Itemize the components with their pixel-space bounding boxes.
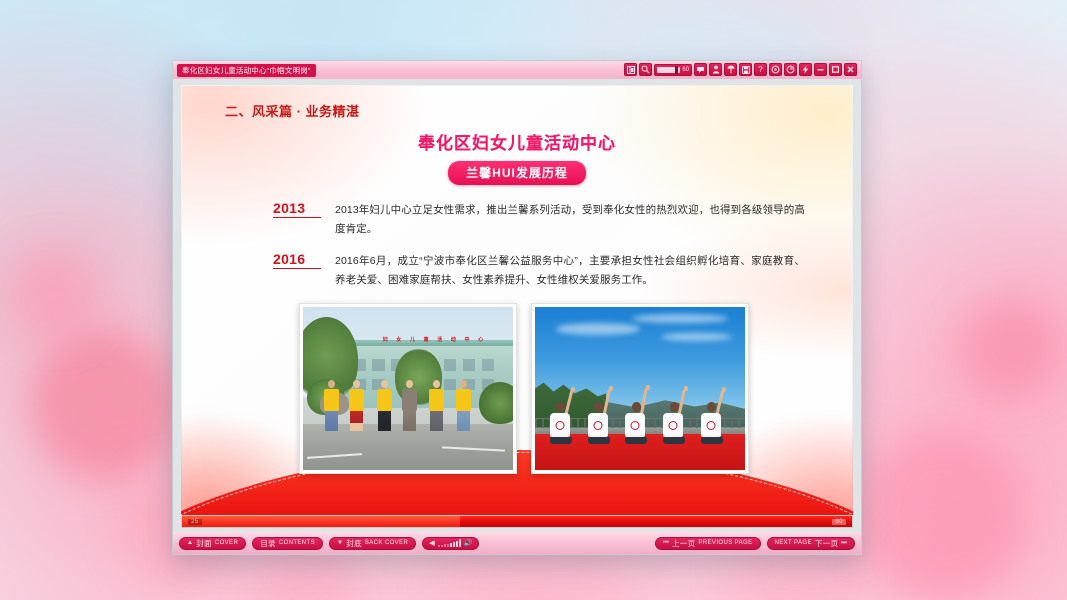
bokeh-blob	[857, 430, 1027, 600]
bottom-toolbar: ▲ 封面 COVER 目录 CONTENTS ▼ 封底 BACK COVER ◀	[173, 532, 861, 554]
next-label-en: NEXT PAGE	[775, 540, 812, 546]
cover-label-en: COVER	[215, 540, 238, 546]
pin-icon[interactable]	[724, 63, 737, 76]
person-icon[interactable]	[709, 63, 722, 76]
slide-content: 二、风采篇 · 业务精湛 奉化区妇女儿童活动中心 兰馨HUI发展历程 2013 …	[181, 85, 853, 528]
lightning-icon[interactable]	[799, 63, 812, 76]
back-cover-label-cn: 封底	[346, 538, 362, 549]
speaker-icon: 🔊	[464, 539, 473, 547]
window-title: 奉化区妇女儿童活动中心“巾帼文明岗”	[177, 64, 316, 77]
photo-women-victory-pose	[531, 303, 749, 474]
current-page-indicator: 25	[188, 519, 202, 525]
skip-forward-icon: ⏭	[841, 540, 847, 547]
volume-level-bars[interactable]	[438, 539, 461, 547]
section-label: 二、风采篇 · 业务精湛	[225, 101, 823, 120]
building-sign: 妇女儿童活动中心	[383, 333, 484, 346]
settings-icon[interactable]	[769, 63, 782, 76]
previous-label-cn: 上一页	[672, 538, 695, 549]
bokeh-blob	[957, 300, 1057, 400]
bokeh-blob	[8, 250, 98, 340]
book-icon[interactable]	[624, 63, 637, 76]
presentation-window: 奉化区妇女儿童活动中心“巾帼文明岗” 60	[172, 60, 862, 555]
slider-value: 60	[682, 67, 689, 73]
search-icon[interactable]	[639, 63, 652, 76]
previous-label-en: PREVIOUS PAGE	[698, 540, 752, 546]
subtitle-badge: 兰馨HUI发展历程	[448, 161, 586, 185]
photo-gallery: 妇女儿童活动中心	[211, 303, 823, 474]
maximize-icon[interactable]	[829, 63, 842, 76]
save-icon[interactable]	[739, 63, 752, 76]
comment-icon[interactable]	[694, 63, 707, 76]
contents-label-cn: 目录	[260, 538, 276, 549]
timeline-year: 2016	[273, 252, 321, 269]
skip-back-icon: ⏮	[663, 540, 669, 547]
photo-volunteers-at-center: 妇女儿童活动中心	[299, 303, 517, 474]
close-icon[interactable]	[844, 63, 857, 76]
timeline-entry: 2013 2013年妇儿中心立足女性需求，推出兰馨系列活动，受到奉化女性的热烈欢…	[273, 201, 805, 239]
timeline-entry: 2016 2016年6月，成立“宁波市奉化区兰馨公益服务中心”，主要承担女性社会…	[273, 252, 805, 290]
brightness-slider[interactable]: 60	[654, 64, 692, 76]
contents-button[interactable]: 目录 CONTENTS	[252, 537, 323, 550]
clock-icon[interactable]	[784, 63, 797, 76]
left-arrow-icon: ◀	[429, 539, 434, 547]
badge-container: 兰馨HUI发展历程	[211, 161, 823, 185]
timeline-text: 2013年妇儿中心立足女性需求，推出兰馨系列活动，受到奉化女性的热烈欢迎，也得到…	[335, 201, 805, 239]
bokeh-blob	[30, 330, 180, 480]
contents-label-en: CONTENTS	[279, 540, 315, 546]
cover-button[interactable]: ▲ 封面 COVER	[179, 537, 246, 550]
timeline-year: 2013	[273, 201, 321, 218]
page-nav-group: ⏮ 上一页 PREVIOUS PAGE NEXT PAGE 下一页 ⏭	[655, 537, 855, 550]
down-arrow-icon: ▼	[337, 540, 343, 546]
slide-viewport: 二、风采篇 · 业务精湛 奉化区妇女儿童活动中心 兰馨HUI发展历程 2013 …	[173, 79, 861, 532]
next-label-cn: 下一页	[815, 538, 838, 549]
previous-page-button[interactable]: ⏮ 上一页 PREVIOUS PAGE	[655, 537, 760, 550]
back-cover-button[interactable]: ▼ 封底 BACK COVER	[329, 537, 416, 550]
up-arrow-icon: ▲	[187, 540, 193, 546]
next-page-button[interactable]: NEXT PAGE 下一页 ⏭	[767, 537, 856, 550]
page-progress-bar[interactable]: 25 60	[181, 515, 853, 528]
help-icon[interactable]: ?	[754, 63, 767, 76]
window-title-bar: 奉化区妇女儿童活动中心“巾帼文明岗” 60	[173, 61, 861, 79]
screen: 奉化区妇女儿童活动中心“巾帼文明岗” 60	[0, 0, 1067, 600]
window-toolbar: 60 ?	[624, 63, 857, 76]
volume-slider[interactable]: ◀ 🔊	[422, 537, 479, 550]
minimize-icon[interactable]	[814, 63, 827, 76]
cover-label-cn: 封面	[196, 538, 212, 549]
slider-track[interactable]	[657, 67, 680, 73]
slide: 二、风采篇 · 业务精湛 奉化区妇女儿童活动中心 兰馨HUI发展历程 2013 …	[181, 85, 853, 528]
timeline-list: 2013 2013年妇儿中心立足女性需求，推出兰馨系列活动，受到奉化女性的热烈欢…	[211, 201, 823, 290]
total-pages-indicator: 60	[832, 519, 846, 525]
progress-fill	[182, 516, 460, 527]
back-cover-label-en: BACK COVER	[365, 540, 408, 546]
timeline-text: 2016年6月，成立“宁波市奉化区兰馨公益服务中心”，主要承担女性社会组织孵化培…	[335, 252, 805, 290]
page-title: 奉化区妇女儿童活动中心	[211, 129, 823, 154]
